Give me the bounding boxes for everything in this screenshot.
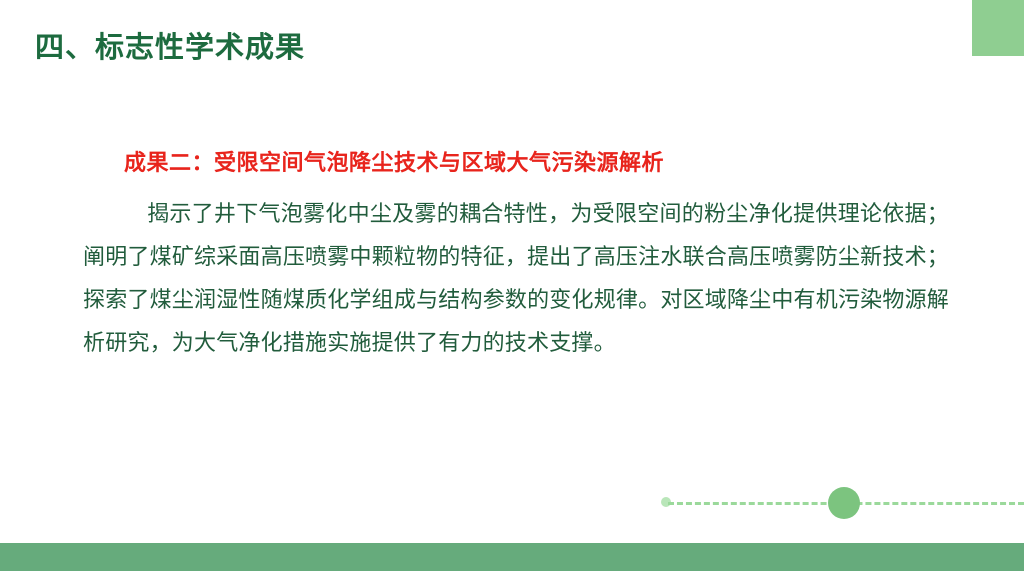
result-heading: 成果二：受限空间气泡降尘技术与区域大气污染源解析 <box>124 145 664 177</box>
body-paragraph: 揭示了井下气泡雾化中尘及雾的耦合特性，为受限空间的粉尘净化提供理论依据；阐明了煤… <box>83 192 949 364</box>
body-paragraph-text: 揭示了井下气泡雾化中尘及雾的耦合特性，为受限空间的粉尘净化提供理论依据；阐明了煤… <box>83 201 949 355</box>
corner-accent-block <box>972 0 1024 56</box>
page-title: 四、标志性学术成果 <box>35 24 305 66</box>
bottom-bar <box>0 543 1024 571</box>
decoration-dot-large <box>828 487 860 519</box>
slide-canvas: 四、标志性学术成果 成果二：受限空间气泡降尘技术与区域大气污染源解析 揭示了井下… <box>0 0 1024 571</box>
